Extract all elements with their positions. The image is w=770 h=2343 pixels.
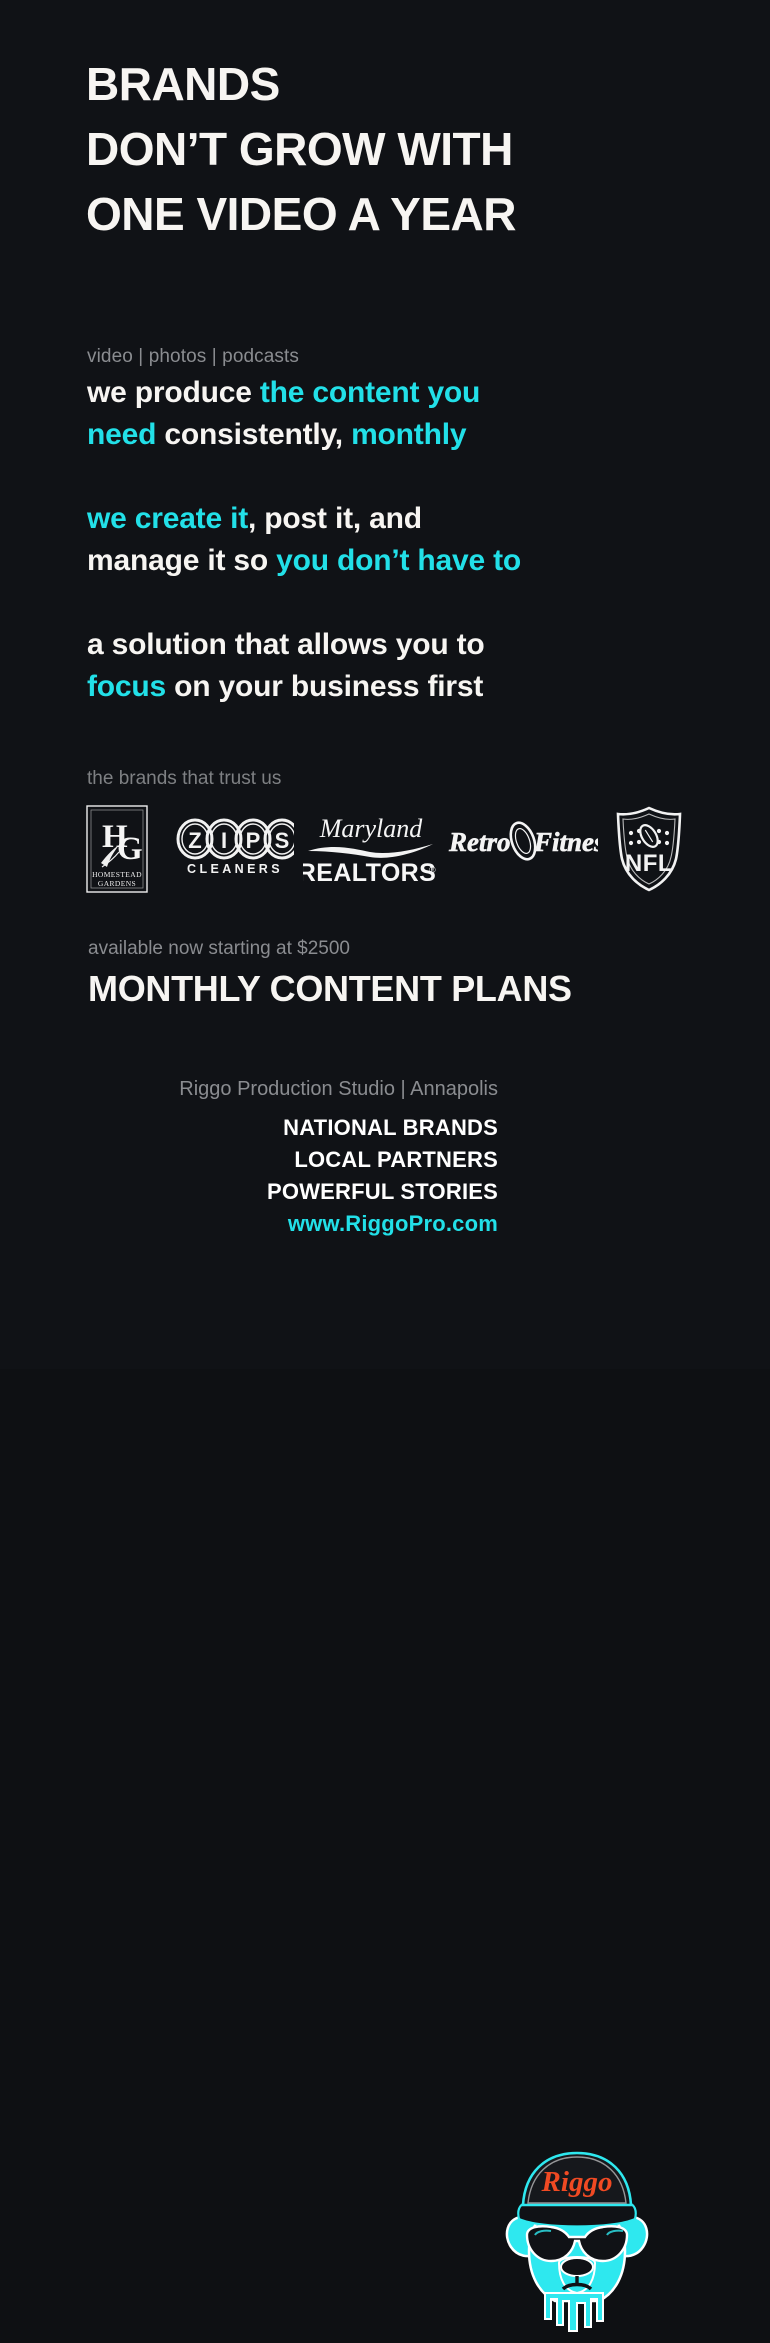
pitch-block-focus: a solution that allows you to focus on y… [87, 624, 727, 708]
tagline-local-partners: LOCAL PARTNERS [294, 1147, 498, 1173]
brand-logo-maryland-realtors: Maryland REALTORS ® [303, 805, 438, 893]
brand-logo-homestead-gardens: H G HOMESTEAD GARDENS [86, 805, 148, 893]
pitch1-part1: we produce [87, 376, 260, 409]
svg-text:Fitness: Fitness [533, 827, 598, 857]
studio-location: Riggo Production Studio | Annapolis [179, 1078, 498, 1101]
availability-text: available now starting at $2500 [88, 938, 350, 960]
pitch1-part2: the content you [260, 376, 480, 409]
headline-line-1: BRANDS [86, 52, 706, 117]
brand-logo-strip: H G HOMESTEAD GARDENS Z I [86, 805, 706, 893]
headline: BRANDS DON’T GROW WITH ONE VIDEO A YEAR [86, 52, 706, 247]
svg-text:Z: Z [188, 828, 201, 853]
brand-logo-nfl: NFL [614, 805, 684, 893]
pitch-block-produce: we produce the content you need consiste… [87, 372, 727, 456]
svg-text:HOMESTEAD: HOMESTEAD [92, 870, 142, 879]
pitch1-part4: consistently, [156, 418, 351, 451]
svg-text:Maryland: Maryland [319, 814, 424, 843]
svg-text:®: ® [429, 865, 436, 875]
svg-text:REALTORS: REALTORS [303, 859, 436, 887]
pricing-title: MONTHLY CONTENT PLANS [88, 968, 572, 1010]
pitch3-part1: a solution that allows you to [87, 628, 485, 661]
website-link[interactable]: www.RiggoPro.com [288, 1211, 498, 1237]
brand-logo-retro-fitness: Retro Fitness [446, 805, 598, 893]
svg-text:Riggo: Riggo [541, 2166, 613, 2198]
svg-text:G: G [117, 831, 143, 867]
tagline-powerful-stories: POWERFUL STORIES [267, 1179, 498, 1205]
svg-text:CLEANERS: CLEANERS [187, 862, 283, 876]
pitch2-part3: manage it so [87, 544, 276, 577]
pitch1-part5: monthly [351, 418, 466, 451]
pitch2-part4: you don’t have to [276, 544, 521, 577]
headline-line-2: DON’T GROW WITH [86, 117, 706, 182]
pitch3-part2: focus [87, 670, 166, 703]
pitch3-part3: on your business first [166, 670, 483, 703]
tagline-national-brands: NATIONAL BRANDS [283, 1115, 498, 1141]
media-types-kicker: video | photos | podcasts [87, 346, 299, 368]
pitch-block-create: we create it, post it, and manage it so … [87, 498, 727, 582]
svg-text:Retro: Retro [448, 827, 511, 857]
brand-logo-zips-cleaners: Z I P S CLEANERS [176, 805, 294, 893]
svg-text:P: P [246, 828, 261, 853]
riggo-mascot-logo: Riggo [497, 2143, 657, 2338]
svg-text:NFL: NFL [625, 850, 673, 877]
svg-text:GARDENS: GARDENS [98, 879, 136, 888]
svg-text:I: I [221, 828, 227, 853]
pitch2-part2: , post it, and [248, 502, 422, 535]
footer: Riggo Production Studio | Annapolis NATI… [0, 1075, 770, 1275]
pitch2-part1: we create it [87, 502, 248, 535]
brands-trust-label: the brands that trust us [87, 768, 281, 790]
headline-line-3: ONE VIDEO A YEAR [86, 182, 706, 247]
promo-poster: BRANDS DON’T GROW WITH ONE VIDEO A YEAR … [0, 0, 770, 1369]
svg-text:S: S [275, 828, 290, 853]
pitch1-part3: need [87, 418, 156, 451]
